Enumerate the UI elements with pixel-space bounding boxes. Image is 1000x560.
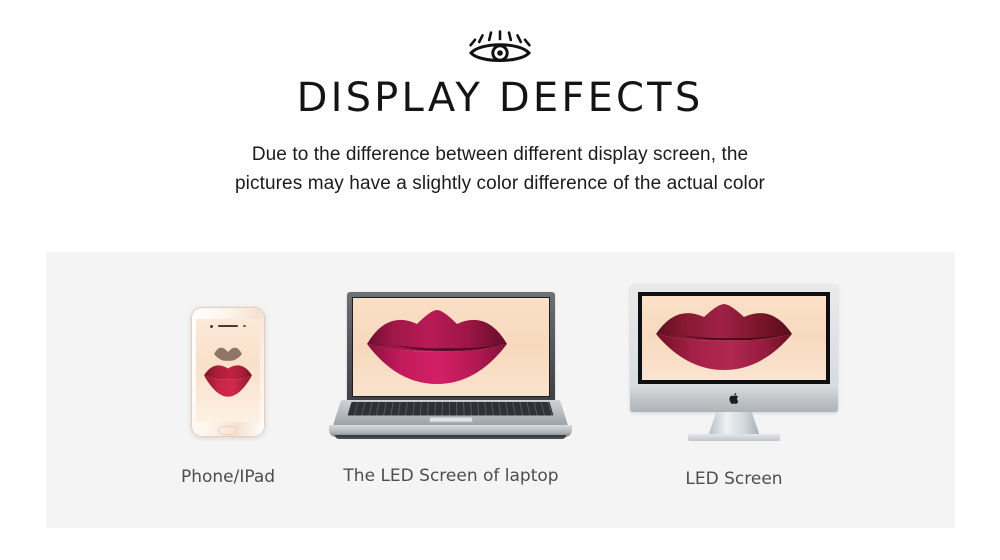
device-phone — [191, 307, 265, 437]
imac-stand-neck — [708, 412, 760, 436]
laptop-keyboard-deck — [333, 400, 568, 426]
subtitle-line-1: Due to the difference between different … — [0, 140, 1000, 169]
laptop-trackpad[interactable] — [428, 417, 473, 423]
laptop-screen — [352, 297, 550, 397]
imac-body — [630, 284, 838, 412]
caption-imac: LED Screen — [626, 469, 842, 489]
phone-screen — [196, 319, 260, 422]
phone-lips-image — [196, 319, 260, 422]
device-imac — [630, 284, 838, 449]
apple-logo-icon — [729, 392, 740, 405]
device-laptop — [329, 292, 572, 439]
phone-camera-icon — [210, 325, 213, 328]
caption-laptop: The LED Screen of laptop — [296, 466, 606, 486]
phone-sensor-icon — [243, 325, 246, 328]
imac-bezel — [638, 292, 830, 384]
phone-home-button[interactable] — [219, 426, 238, 435]
page-header: DISPLAY DEFECTS Due to the difference be… — [0, 0, 1000, 199]
device-list: Phone/IPad The LED Screen of laptop LED … — [46, 252, 955, 528]
phone-speaker-icon — [218, 325, 238, 328]
laptop-keyboard[interactable] — [348, 402, 554, 416]
laptop-base — [329, 400, 572, 439]
laptop-lips-image — [353, 298, 549, 396]
imac-screen — [642, 296, 826, 380]
eye-icon — [465, 30, 535, 64]
imac-lips-image — [642, 296, 826, 380]
imac-chin — [630, 384, 838, 412]
phone-top-sensors — [196, 323, 260, 329]
laptop-lid — [347, 292, 555, 404]
device-comparison-panel: Phone/IPad The LED Screen of laptop LED … — [46, 252, 955, 528]
page-title: DISPLAY DEFECTS — [0, 78, 1000, 118]
imac-stand-foot — [688, 434, 780, 441]
laptop-base-shadow — [335, 435, 566, 439]
subtitle-line-2: pictures may have a slightly color diffe… — [0, 169, 1000, 198]
